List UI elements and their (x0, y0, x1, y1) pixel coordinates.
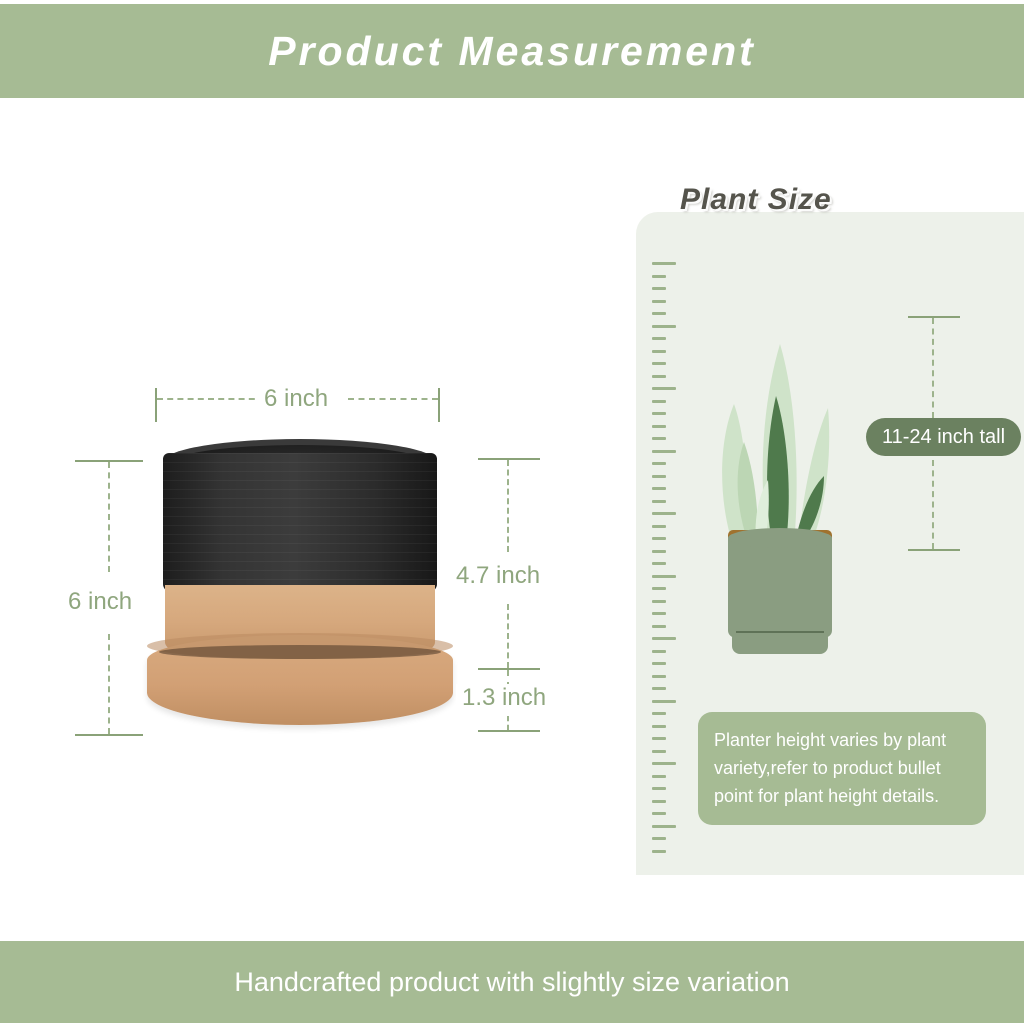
ruler-tick (652, 450, 676, 453)
ruler-tick (652, 462, 666, 465)
ruler-tick (652, 700, 676, 703)
ruler-tick (652, 612, 666, 615)
plant-size-title: Plant Size (680, 183, 832, 217)
product-measurement-infographic: Product Measurement 6 inch 6 inch (0, 0, 1024, 1023)
ruler-tick (652, 400, 666, 403)
height-dim-dash-bottom (108, 634, 110, 734)
body-dim-bottom-tick (478, 730, 540, 732)
width-dim-right-tick (438, 388, 440, 422)
ruler-tick (652, 300, 666, 303)
ruler-tick (652, 337, 666, 340)
plant-height-top-tick (908, 316, 960, 318)
ruler-tick (652, 375, 666, 378)
ruler-tick (652, 600, 666, 603)
ruler-tick (652, 837, 666, 840)
note-line-2: variety,refer to product bullet (714, 754, 970, 782)
width-dim-label: 6 inch (258, 385, 334, 413)
body-dim-mid-tick (478, 668, 540, 670)
plant-height-bottom-tick (908, 549, 960, 551)
ruler-tick (652, 812, 666, 815)
note-line-3: point for plant height details. (714, 782, 970, 810)
height-dim-bottom-tick (75, 734, 143, 736)
footer-band: Handcrafted product with slightly size v… (0, 941, 1024, 1023)
ruler-tick (652, 775, 666, 778)
ruler-tick (652, 425, 666, 428)
plant-height-dash-lower (932, 460, 934, 549)
footer-note: Handcrafted product with slightly size v… (234, 967, 789, 998)
plant-height-note-box: Planter height varies by plant variety,r… (698, 712, 986, 825)
note-line-1: Planter height varies by plant (714, 726, 970, 754)
ruler-tick (652, 562, 666, 565)
ruler-tick (652, 850, 666, 853)
width-dim-dash-left (157, 398, 265, 400)
ruler-tick (652, 475, 666, 478)
ruler-tick (652, 525, 666, 528)
ruler-tick (652, 437, 666, 440)
ruler-tick (652, 362, 666, 365)
product-photo-area: 6 inch 6 inch 4.7 inch 1.3 inch (0, 110, 620, 930)
ruler-tick (652, 387, 676, 390)
ruler-tick (652, 737, 666, 740)
ruler-tick (652, 262, 676, 265)
ruler-tick (652, 550, 666, 553)
ruler-tick (652, 575, 676, 578)
ruler-tick (652, 487, 666, 490)
height-dim-dash-top (108, 462, 110, 572)
planter-photo (155, 435, 445, 735)
ruler-tick (652, 800, 666, 803)
width-dim-dash-right (348, 398, 438, 400)
ruler-tick (652, 825, 676, 828)
ruler-tick (652, 675, 666, 678)
header-band: Product Measurement (0, 4, 1024, 98)
ruler-tick (652, 275, 666, 278)
ruler-tick (652, 287, 666, 290)
ruler-tick (652, 512, 676, 515)
ruler-tick (652, 662, 666, 665)
plant-height-badge-label: 11-24 inch tall (882, 426, 1005, 449)
plant-height-badge: 11-24 inch tall (866, 418, 1021, 456)
plant-height-dash-upper (932, 318, 934, 418)
saucer-dim-label: 1.3 inch (456, 684, 552, 712)
body-dim-top-tick (478, 458, 540, 460)
ruler-tick (652, 325, 676, 328)
ruler-tick (652, 712, 666, 715)
ruler-tick (652, 350, 666, 353)
ruler-tick (652, 500, 666, 503)
saucer-shadow-gap (159, 645, 441, 659)
page-title: Product Measurement (268, 28, 756, 75)
ruler-tick (652, 762, 676, 765)
ruler-tick (652, 687, 666, 690)
snake-plant-illustration (700, 330, 860, 660)
ruler-tick (652, 787, 666, 790)
height-dim-label: 6 inch (62, 588, 138, 616)
ruler-tick (652, 650, 666, 653)
ruler-scale (652, 262, 682, 862)
ruler-tick (652, 625, 666, 628)
body-dim-dash-lower (507, 604, 509, 668)
body-dim-dash-upper (507, 460, 509, 552)
width-dim-left-tick (155, 388, 157, 422)
body-dim-label: 4.7 inch (450, 562, 546, 590)
ruler-tick (652, 750, 666, 753)
ruler-tick (652, 637, 676, 640)
ruler-tick (652, 725, 666, 728)
ruler-tick (652, 312, 666, 315)
ruler-tick (652, 587, 666, 590)
ruler-tick (652, 412, 666, 415)
ruler-tick (652, 537, 666, 540)
saucer-dim-dash-lower (507, 716, 509, 730)
